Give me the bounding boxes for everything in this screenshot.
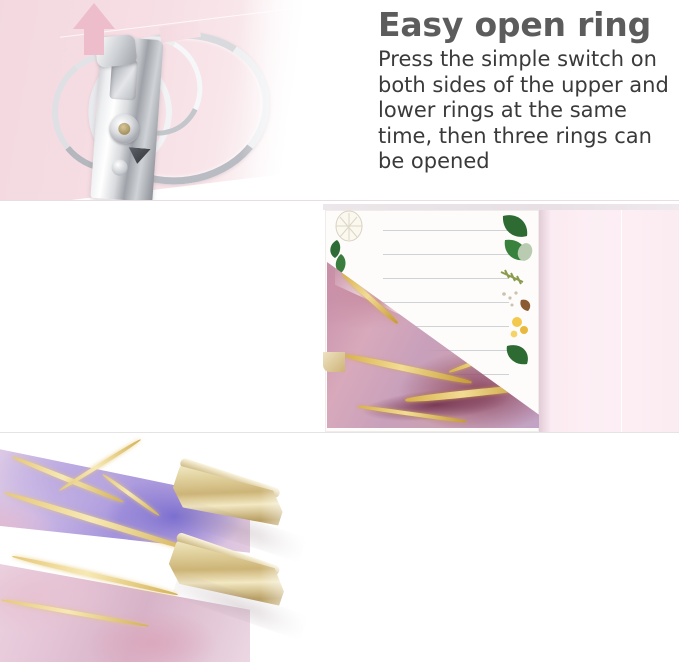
rule-line [383,230,509,231]
rule-line [383,278,509,279]
corner-guard-photo [0,433,330,662]
page-fold-shadow [539,210,551,432]
panel-body: Press the simple switch on both sides of… [378,47,678,175]
easy-open-ring-text: Easy open ring Press the simple switch o… [378,6,678,175]
rule-line [383,302,509,303]
panel-easy-open-ring: Easy open ring Press the simple switch o… [0,0,679,200]
spine-screw [111,159,128,176]
flap-gold-corner [323,352,345,372]
feature-infographic: Easy open ring Press the simple switch o… [0,0,679,662]
spine-rivet [108,113,140,145]
panel-premium-corner-guards: Premium Corner Guards Not only beautiful… [0,433,679,662]
panel-built-in-pockets: Built in pockets to store loose document [0,201,679,432]
page-crease-line [621,210,622,432]
photo-white-fade [240,0,330,200]
panel-heading: Easy open ring [378,6,678,43]
rule-line [383,254,509,255]
pocket-photo [323,204,679,432]
ring-mechanism-photo [0,0,330,200]
photo-white-fade [260,433,330,662]
pink-interior-page [539,210,679,432]
up-arrow-icon [72,2,116,56]
